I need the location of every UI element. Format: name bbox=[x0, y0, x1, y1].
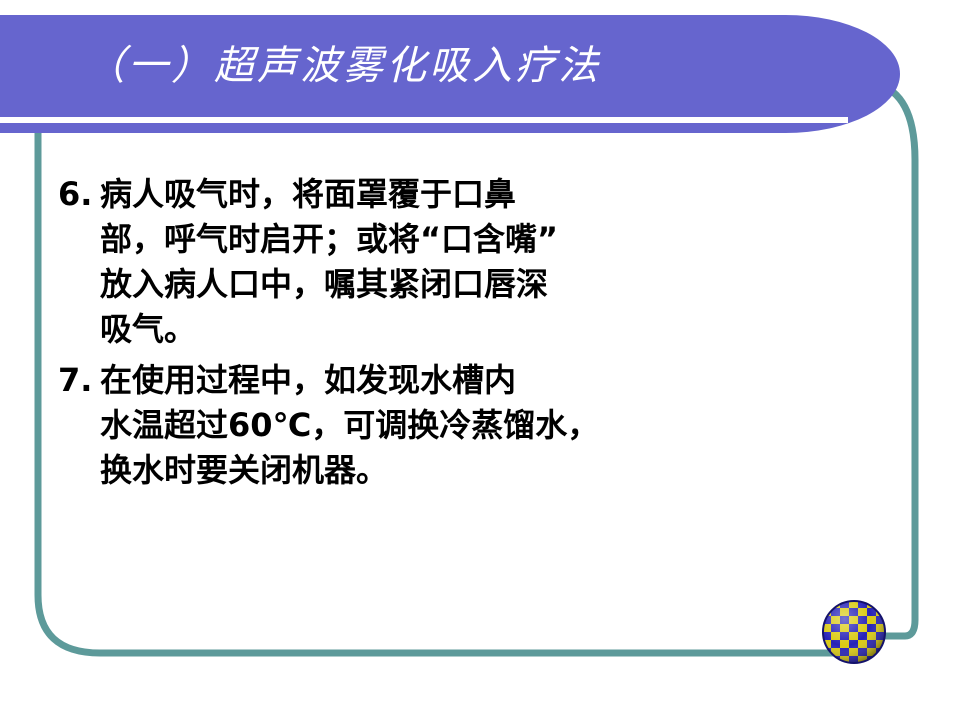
list-item: 6. 病人吸气时，将面罩覆于口鼻 部，呼气时启开；或将“口含嘴” 放入病人口中，… bbox=[58, 172, 698, 352]
list-item-body: 在使用过程中，如发现水槽内 水温超过60℃，可调换冷蒸馏水， 换水时要关闭机器。 bbox=[100, 358, 698, 493]
list-item-marker: 7. bbox=[58, 358, 100, 403]
list-item-line: 水温超过60℃，可调换冷蒸馏水， bbox=[100, 403, 698, 448]
list-item: 7. 在使用过程中，如发现水槽内 水温超过60℃，可调换冷蒸馏水， 换水时要关闭… bbox=[58, 358, 698, 493]
page-title: （一）超声波雾化吸入疗法 bbox=[85, 46, 845, 86]
list-item-body: 病人吸气时，将面罩覆于口鼻 部，呼气时启开；或将“口含嘴” 放入病人口中，嘱其紧… bbox=[100, 172, 698, 352]
header-divider-rule bbox=[0, 117, 848, 123]
list-item-line: 在使用过程中，如发现水槽内 bbox=[100, 358, 698, 403]
list-item-line: 吸气。 bbox=[100, 307, 698, 352]
list-item-marker: 6. bbox=[58, 172, 100, 217]
list-item-line: 放入病人口中，嘱其紧闭口唇深 bbox=[100, 262, 698, 307]
list-item-line: 换水时要关闭机器。 bbox=[100, 448, 698, 493]
content-list: 6. 病人吸气时，将面罩覆于口鼻 部，呼气时启开；或将“口含嘴” 放入病人口中，… bbox=[58, 172, 698, 499]
list-item-line: 部，呼气时启开；或将“口含嘴” bbox=[100, 217, 698, 262]
list-item-line: 病人吸气时，将面罩覆于口鼻 bbox=[100, 172, 698, 217]
checkered-globe-icon bbox=[822, 600, 886, 664]
slide-canvas: （一）超声波雾化吸入疗法 6. 病人吸气时，将面罩覆于口鼻 部，呼气时启开；或将… bbox=[0, 0, 960, 720]
